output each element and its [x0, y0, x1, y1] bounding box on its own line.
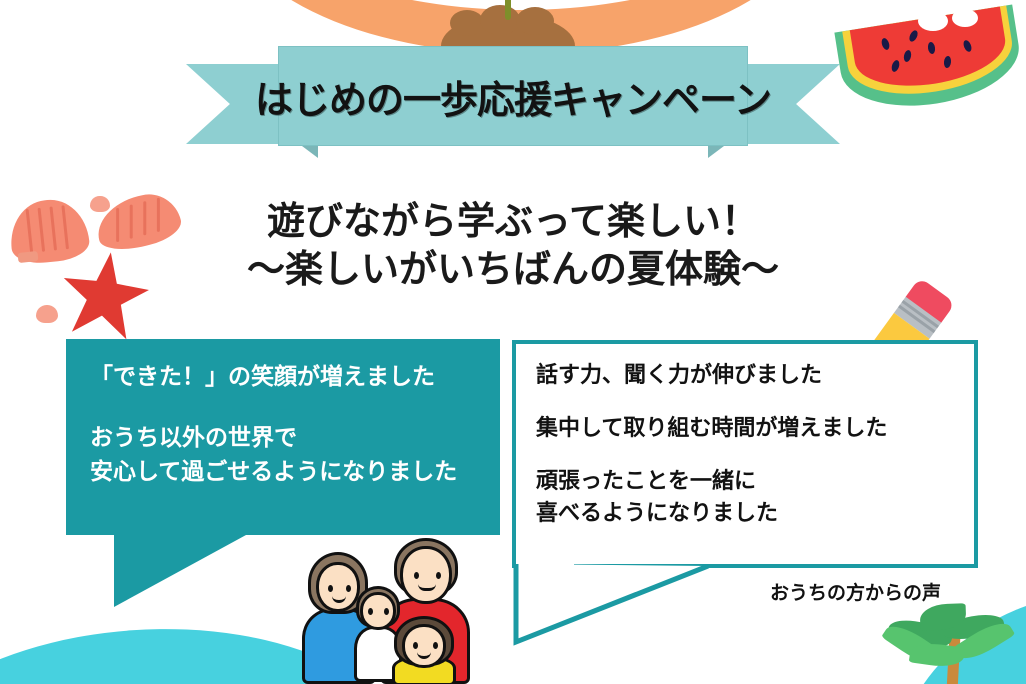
testimonial-bubble-left: 「できた！」の笑顔が増えました おうち以外の世界で 安心して過ごせるようになりま… — [66, 339, 500, 535]
bubble-left-line-3: 安心して過ごせるようになりました — [90, 456, 476, 489]
headline-line-2: 〜楽しいがいちばんの夏体験〜 — [0, 246, 1026, 294]
poster-canvas: はじめの一歩応援キャンペーン 遊びながら学ぶって楽しい！ 〜楽しいがいちばんの夏… — [0, 0, 1026, 684]
testimonial-bubble-right: 話す力、聞く力が伸びました 集中して取り組む時間が増えました 頑張ったことを一緒… — [512, 340, 978, 568]
bubble-left-tail — [114, 535, 246, 607]
bubble-left-line-2: おうち以外の世界で — [90, 422, 476, 455]
small-shell-icon — [36, 305, 58, 323]
campaign-ribbon-banner: はじめの一歩応援キャンペーン — [186, 46, 840, 164]
bubble-right-line-2: 集中して取り組む時間が増えました — [536, 413, 954, 444]
mother-face — [316, 562, 360, 612]
bubble-right-line-3: 頑張ったことを一緒に — [536, 466, 954, 497]
voice-caption: おうちの方からの声 — [770, 578, 941, 605]
ribbon-panel: はじめの一歩応援キャンペーン — [278, 46, 748, 146]
headline-block: 遊びながら学ぶって楽しい！ 〜楽しいがいちばんの夏体験〜 — [0, 198, 1026, 294]
father-face — [400, 546, 452, 604]
soil-bump — [480, 5, 520, 35]
soil-bump — [450, 10, 484, 36]
headline-line-1: 遊びながら学ぶって楽しい！ — [0, 198, 1026, 246]
watermelon-slice-icon — [840, 18, 1020, 104]
sprout-icon — [505, 0, 511, 20]
soil-bump — [516, 7, 554, 35]
bubble-right-line-1: 話す力、聞く力が伸びました — [536, 360, 954, 391]
palm-tree-icon — [880, 600, 1026, 684]
girl-face — [402, 624, 446, 668]
banner-title: はじめの一歩応援キャンペーン — [255, 69, 771, 124]
family-illustration — [300, 530, 476, 684]
bubble-left-line-1: 「できた！」の笑顔が増えました — [90, 361, 476, 394]
bubble-right-tail — [512, 564, 742, 648]
baby-face — [360, 592, 396, 630]
bubble-right-line-4: 喜べるようになりました — [536, 498, 954, 529]
